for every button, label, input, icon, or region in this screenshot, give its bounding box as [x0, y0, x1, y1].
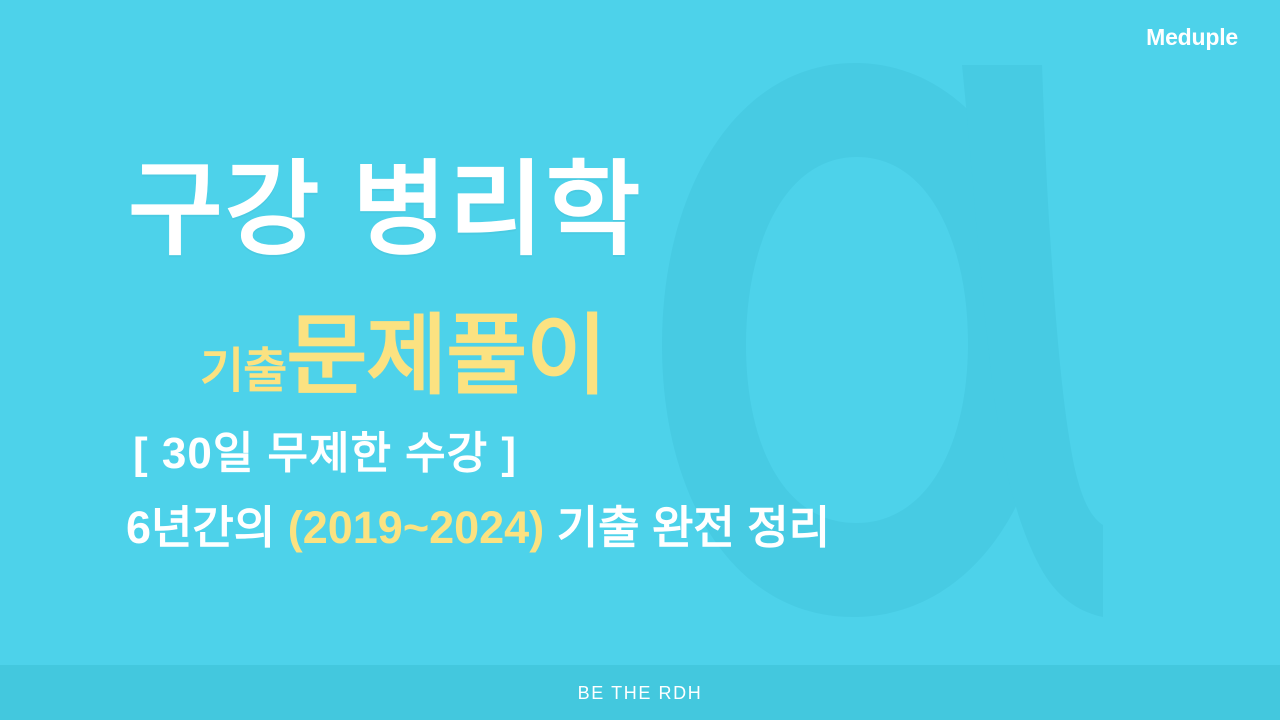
tagline-coverage-years: (2019~2024)	[288, 502, 544, 553]
headline-block: 구강 병리학 기출 문제풀이 [ 30일 무제한 수강 ] 6년간의 (2019…	[0, 0, 1280, 665]
brand-logo: Meduple	[1146, 26, 1238, 49]
subtitle-small-label: 기출	[200, 348, 286, 400]
course-thumbnail-slide: Meduple 구강 병리학 기출 문제풀이 [ 30일 무제한 수강 ] 6년…	[0, 0, 1280, 720]
subtitle-group: 기출 문제풀이	[200, 312, 606, 400]
tagline-coverage-prefix: 6년간의	[126, 502, 288, 553]
footer-slogan: BE THE RDH	[578, 684, 703, 702]
tagline-coverage-suffix: 기출 완전 정리	[544, 502, 830, 553]
footer-bar: BE THE RDH	[0, 665, 1280, 720]
tagline-coverage: 6년간의 (2019~2024) 기출 완전 정리	[126, 505, 830, 550]
tagline-duration: [ 30일 무제한 수강 ]	[133, 432, 517, 476]
subtitle-large-label: 문제풀이	[286, 312, 606, 400]
page-title: 구강 병리학	[128, 158, 642, 261]
